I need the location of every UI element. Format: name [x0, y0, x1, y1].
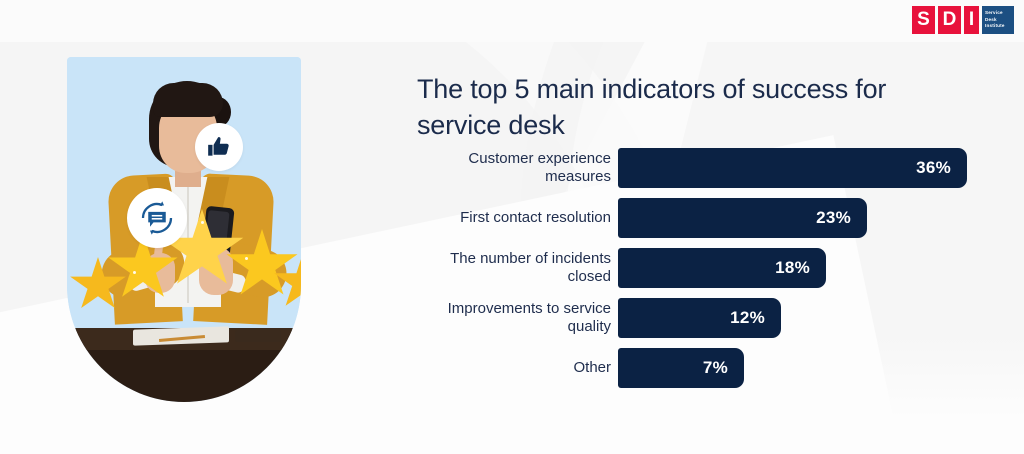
hair-fringe [153, 83, 223, 117]
feedback-chat-icon [136, 197, 178, 239]
bar-improvements-to-service-quality: 12% [618, 298, 781, 338]
bar-category-label: Other [417, 359, 618, 377]
bar-value-label: 18% [775, 258, 810, 278]
logo-letter-d: D [938, 6, 961, 34]
bar-first-contact-resolution: 23% [618, 198, 867, 238]
bar-value-label: 36% [916, 158, 951, 178]
logo-tagline-line-3: Institute [985, 23, 1005, 30]
hero-photo [67, 57, 301, 402]
logo-letter-s: S [912, 6, 935, 34]
chart-row: The number of incidents closed 18% [417, 248, 997, 288]
chart-row: Improvements to service quality 12% [417, 298, 997, 338]
bar-other: 7% [618, 348, 744, 388]
sparkle [133, 271, 136, 274]
bar-number-of-incidents-closed: 18% [618, 248, 826, 288]
infographic-canvas: S D I Service Desk Institute [0, 0, 1024, 454]
logo-tagline-line-2: Desk [985, 17, 997, 24]
chart-row: First contact resolution 23% [417, 198, 997, 238]
bar-category-label: Customer experience measures [417, 150, 618, 187]
background-top-band [0, 0, 1024, 42]
logo-letter-i: I [964, 6, 979, 34]
thumbs-up-badge [195, 123, 243, 171]
bar-value-label: 7% [703, 358, 728, 378]
sparkle [201, 221, 204, 224]
thumbs-up-icon [206, 134, 232, 160]
logo-tagline-line-1: Service [985, 10, 1003, 17]
bar-category-label: Improvements to service quality [417, 300, 618, 337]
bar-value-label: 23% [816, 208, 851, 228]
bar-customer-experience-measures: 36% [618, 148, 967, 188]
chart-row: Customer experience measures 36% [417, 148, 997, 188]
sdi-logo: S D I Service Desk Institute [912, 6, 1014, 34]
sparkle [245, 257, 248, 260]
page-title: The top 5 main indicators of success for… [417, 72, 887, 143]
bar-value-label: 12% [730, 308, 765, 328]
feedback-chat-badge [127, 188, 187, 248]
chart-row: Other 7% [417, 348, 997, 388]
bar-category-label: First contact resolution [417, 209, 618, 227]
bar-category-label: The number of incidents closed [417, 250, 618, 287]
logo-tagline: Service Desk Institute [982, 6, 1014, 34]
bar-chart: Customer experience measures 36% First c… [417, 148, 997, 398]
desk-item [235, 330, 281, 342]
